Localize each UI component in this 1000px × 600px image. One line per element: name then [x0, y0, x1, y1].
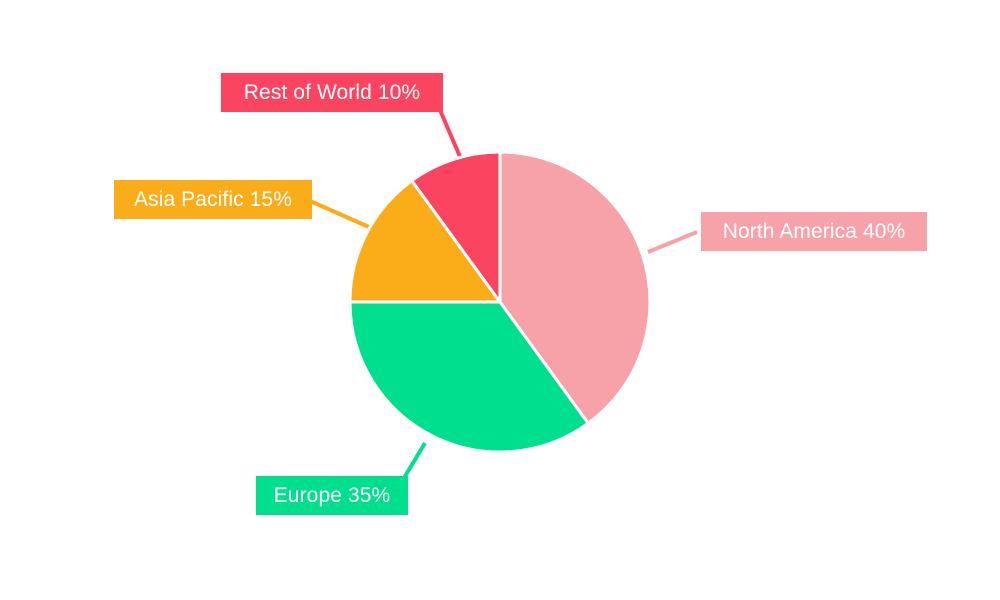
leader-line-north-america: [648, 232, 697, 252]
pie-chart-figure: North America 40% Europe 35% Asia Pacifi…: [0, 0, 1000, 600]
pie-label-rest-of-world[interactable]: Rest of World 10%: [221, 73, 443, 112]
pie-slice-group: [350, 152, 650, 452]
leader-line-europe: [404, 443, 425, 478]
pie-label-europe[interactable]: Europe 35%: [256, 476, 408, 515]
pie-chart-canvas: [0, 0, 1000, 600]
pie-label-north-america[interactable]: North America 40%: [701, 212, 927, 251]
pie-label-asia-pacific[interactable]: Asia Pacific 15%: [114, 180, 312, 219]
leader-line-asia-pacific: [310, 201, 369, 227]
